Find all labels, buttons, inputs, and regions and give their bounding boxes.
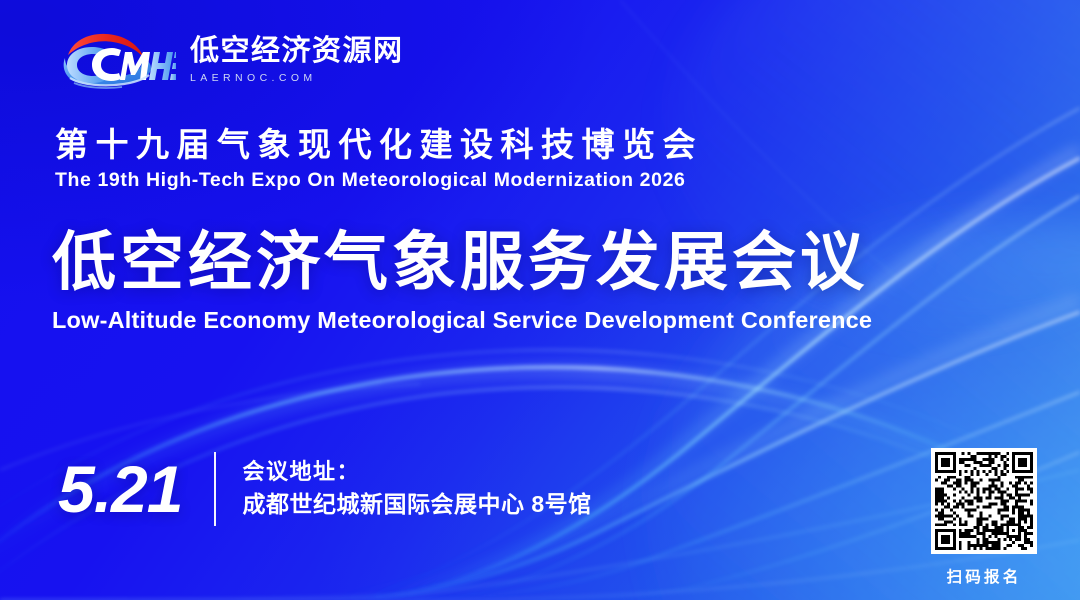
conference-banner: 低空经济资源网 LAERNOC.COM 第十九届气象现代化建设科技博览会 The… xyxy=(0,0,1080,600)
event-date: 5.21 xyxy=(58,456,182,522)
venue-block: 会议地址： 成都世纪城新国际会展中心 8号馆 xyxy=(242,456,591,521)
qr-code-icon[interactable] xyxy=(931,448,1037,554)
site-logo[interactable]: 低空经济资源网 LAERNOC.COM xyxy=(52,28,404,90)
expo-title-block: 第十九届气象现代化建设科技博览会 The 19th High-Tech Expo… xyxy=(55,127,703,192)
conference-headline-block: 低空经济气象服务发展会议 Low-Altitude Economy Meteor… xyxy=(52,228,872,334)
expo-title-cn: 第十九届气象现代化建设科技博览会 xyxy=(55,127,703,164)
conference-title-cn: 低空经济气象服务发展会议 xyxy=(52,228,872,297)
cloud-ccmhe-logo-icon xyxy=(52,28,176,90)
site-name: 低空经济资源网 xyxy=(190,36,404,66)
site-url: LAERNOC.COM xyxy=(190,72,404,84)
conference-title-en: Low-Altitude Economy Meteorological Serv… xyxy=(52,307,872,334)
qr-caption: 扫码报名 xyxy=(925,565,1043,587)
venue-label: 会议地址： xyxy=(242,456,591,488)
logo-text-group: 低空经济资源网 LAERNOC.COM xyxy=(190,34,404,83)
registration-qr-block[interactable]: 扫码报名 xyxy=(925,448,1043,587)
venue-address: 成都世纪城新国际会展中心 8号馆 xyxy=(242,488,591,521)
event-info-block: 5.21 会议地址： 成都世纪城新国际会展中心 8号馆 xyxy=(58,452,592,526)
expo-title-en: The 19th High-Tech Expo On Meteorologica… xyxy=(55,169,703,192)
vertical-divider xyxy=(214,452,216,526)
